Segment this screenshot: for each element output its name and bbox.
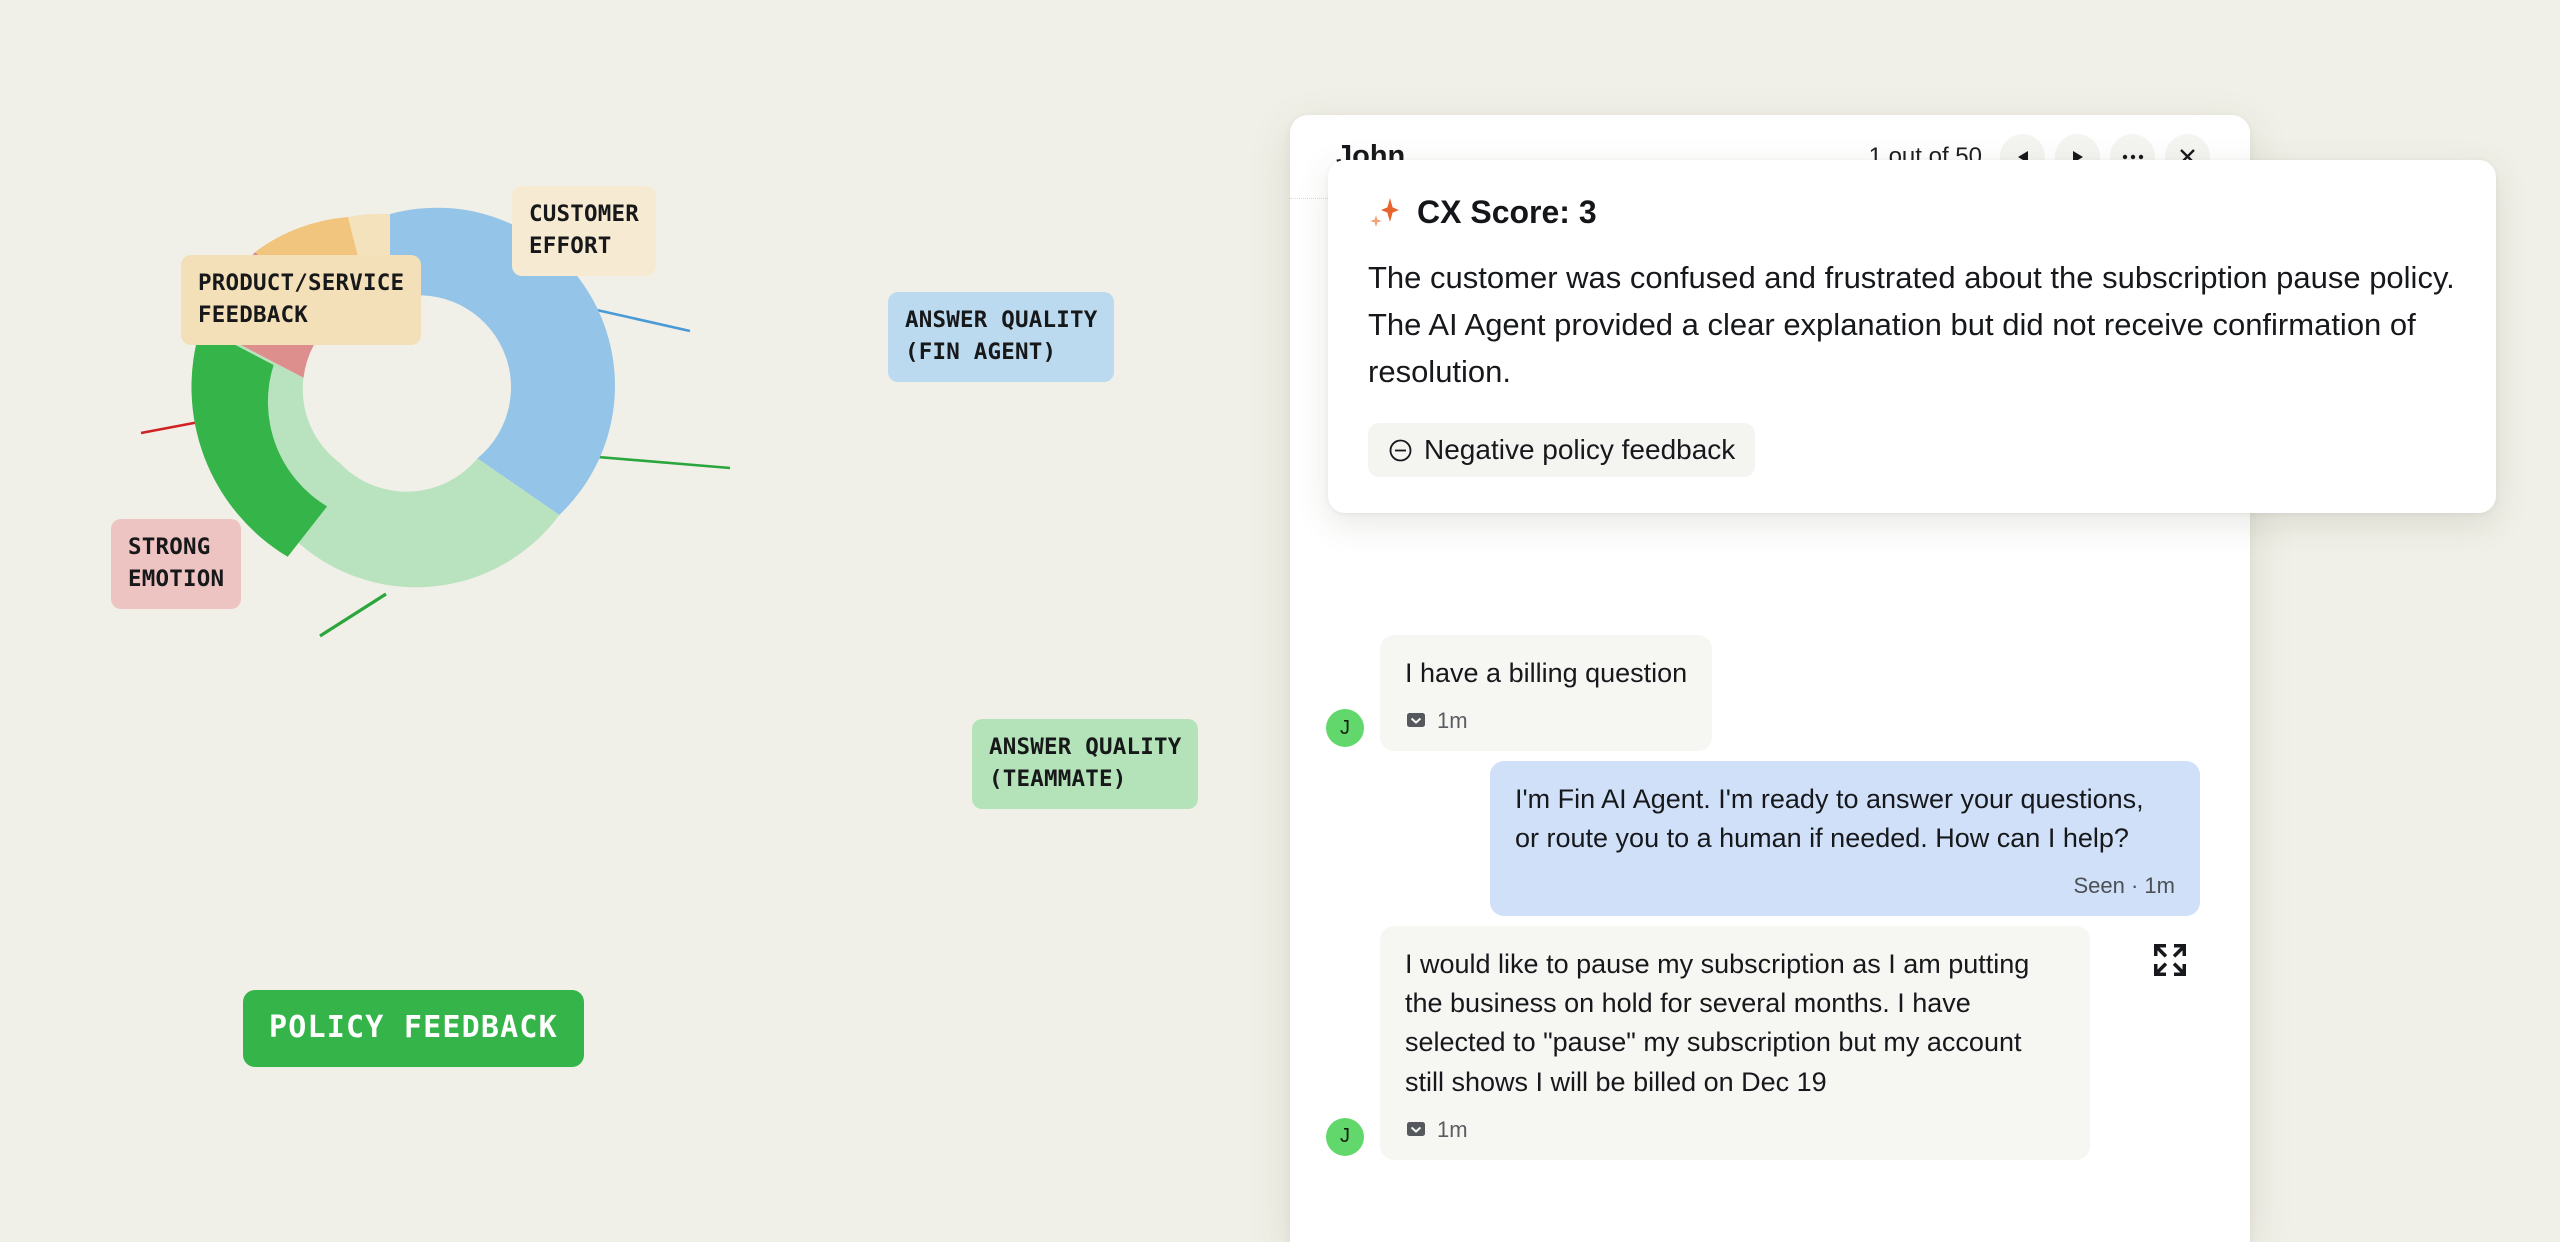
callout-product-service-feedback[interactable]: PRODUCT/SERVICE FEEDBACK — [181, 255, 421, 345]
message-text: I would like to pause my subscription as… — [1405, 945, 2065, 1102]
callout-customer-effort[interactable]: CUSTOMER EFFORT — [512, 186, 656, 276]
avatar: J — [1326, 1118, 1364, 1156]
callout-answer-quality-teammate[interactable]: ANSWER QUALITY (TEAMMATE) — [972, 719, 1198, 809]
cx-score-header: CX Score: 3 — [1368, 194, 2456, 231]
callout-strong-emotion[interactable]: STRONG EMOTION — [111, 519, 241, 609]
message-text: I'm Fin AI Agent. I'm ready to answer yo… — [1515, 780, 2175, 858]
cx-score-tag-label: Negative policy feedback — [1424, 434, 1735, 466]
seen-receipt-icon — [1405, 710, 1427, 732]
message-timestamp: Seen · 1m — [2074, 870, 2176, 902]
message-row: I'm Fin AI Agent. I'm ready to answer yo… — [1326, 761, 2200, 916]
message-bubble[interactable]: I'm Fin AI Agent. I'm ready to answer yo… — [1490, 761, 2200, 916]
message-meta: Seen · 1m — [1515, 870, 2175, 902]
message-meta: 1m — [1405, 705, 1687, 737]
cx-score-card: CX Score: 3 The customer was confused an… — [1328, 160, 2496, 513]
minus-circle-icon — [1388, 438, 1413, 463]
callout-policy-feedback[interactable]: POLICY FEEDBACK — [243, 990, 584, 1067]
callout-answer-quality-fin-agent[interactable]: ANSWER QUALITY (FIN AGENT) — [888, 292, 1114, 382]
message-bubble[interactable]: I have a billing question 1m — [1380, 635, 1712, 751]
cx-score-tag[interactable]: Negative policy feedback — [1368, 423, 1755, 477]
conversation-topics-donut-chart: CUSTOMER EFFORT PRODUCT/SERVICE FEEDBACK… — [0, 0, 1290, 1242]
message-row: J I have a billing question 1m — [1326, 635, 2200, 751]
screen: CUSTOMER EFFORT PRODUCT/SERVICE FEEDBACK… — [0, 0, 2560, 1242]
conversation-panel: John 1 out of 50 — [1290, 115, 2250, 1242]
leader-line-policy-feedback — [320, 594, 386, 636]
seen-receipt-icon — [1405, 1119, 1427, 1141]
cx-score-title: CX Score: 3 — [1417, 194, 1597, 231]
cx-score-summary: The customer was confused and frustrated… — [1368, 254, 2456, 395]
message-meta: 1m — [1405, 1114, 2065, 1146]
message-bubble[interactable]: I would like to pause my subscription as… — [1380, 926, 2090, 1159]
avatar: J — [1326, 709, 1364, 747]
message-thread: J I have a billing question 1m — [1290, 635, 2250, 1170]
message-timestamp: 1m — [1437, 705, 1468, 737]
sparkle-icon — [1368, 196, 1402, 230]
message-text: I have a billing question — [1405, 654, 1687, 693]
message-row: J I would like to pause my subscription … — [1326, 926, 2200, 1159]
converge-arrows-icon[interactable] — [2150, 940, 2190, 980]
message-timestamp: 1m — [1437, 1114, 1468, 1146]
